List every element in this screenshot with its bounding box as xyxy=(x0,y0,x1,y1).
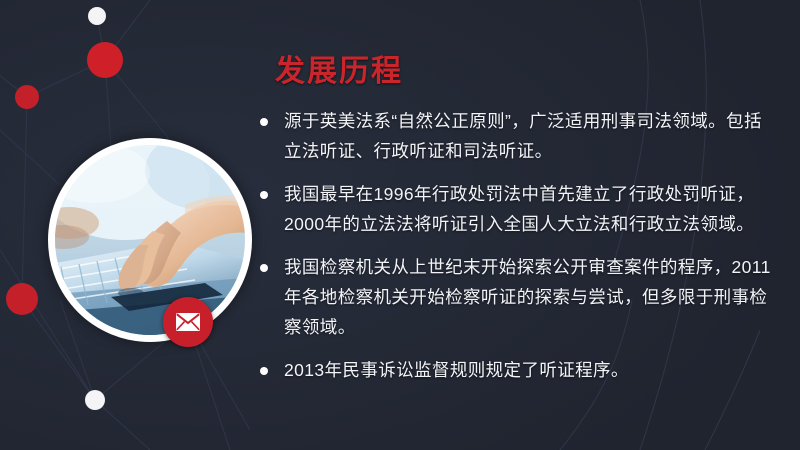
decor-node-white-top xyxy=(88,7,106,25)
decor-node-red-large xyxy=(87,42,123,78)
list-item: 我国最早在1996年行政处罚法中首先建立了行政处罚听证，2000年的立法法将听证… xyxy=(258,179,778,239)
list-item: 源于英美法系“自然公正原则”，广泛适用刑事司法领域。包括立法听证、行政听证和司法… xyxy=(258,106,778,166)
decor-node-red-left xyxy=(6,283,38,315)
photo-circle-frame xyxy=(48,138,252,342)
list-item-text: 2013年民事诉讼监督规则规定了听证程序。 xyxy=(284,355,778,385)
list-item-text: 源于英美法系“自然公正原则”，广泛适用刑事司法领域。包括立法听证、行政听证和司法… xyxy=(284,106,778,166)
envelope-icon xyxy=(175,312,201,332)
list-item-text: 我国检察机关从上世纪末开始探索公开审查案件的程序，2011年各地检察机关开始检察… xyxy=(284,252,778,342)
list-item: 我国检察机关从上世纪末开始探索公开审查案件的程序，2011年各地检察机关开始检察… xyxy=(258,252,778,342)
bullet-dot-icon xyxy=(260,367,268,375)
hands-typing-on-laptop-keyboard-photo xyxy=(55,145,245,335)
list-item-text: 我国最早在1996年行政处罚法中首先建立了行政处罚听证，2000年的立法法将听证… xyxy=(284,179,778,239)
bullet-list: 源于英美法系“自然公正原则”，广泛适用刑事司法领域。包括立法听证、行政听证和司法… xyxy=(258,106,778,398)
photo-clip xyxy=(55,145,245,335)
bullet-dot-icon xyxy=(260,264,268,272)
decor-node-red-small xyxy=(15,85,39,109)
bullet-dot-icon xyxy=(260,191,268,199)
bullet-dot-icon xyxy=(260,118,268,126)
decor-node-white-bottom xyxy=(85,390,105,410)
list-item: 2013年民事诉讼监督规则规定了听证程序。 xyxy=(258,355,778,385)
presentation-slide: 发展历程 源于英美法系“自然公正原则”，广泛适用刑事司法领域。包括立法听证、行政… xyxy=(0,0,800,450)
envelope-badge[interactable] xyxy=(163,297,213,347)
page-title: 发展历程 xyxy=(275,46,403,90)
